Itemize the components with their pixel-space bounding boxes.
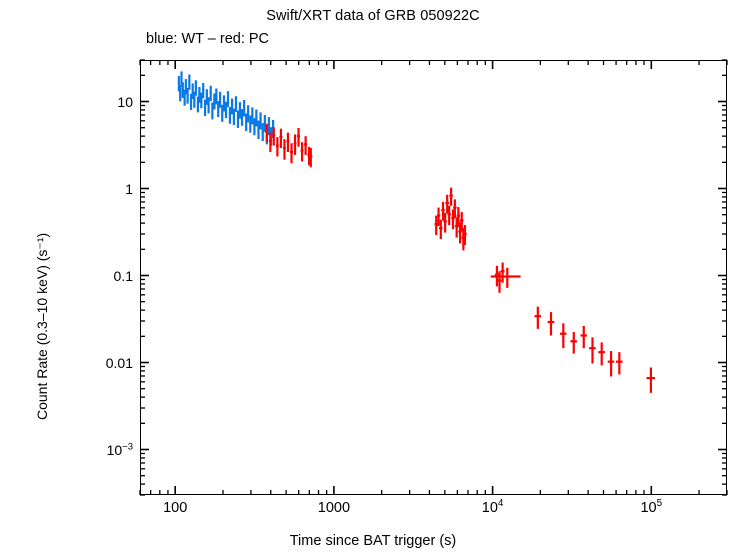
series-wt [178, 71, 274, 145]
data-canvas [141, 61, 725, 493]
series-pc [265, 124, 655, 393]
chart-figure: Swift/XRT data of GRB 050922C blue: WT –… [0, 0, 746, 558]
x-tick-label: 105 [640, 500, 662, 516]
x-tick-label: 104 [482, 500, 504, 516]
plot-area [140, 60, 727, 495]
x-tick-label: 1000 [318, 500, 350, 516]
x-tick-label: 100 [163, 500, 187, 516]
